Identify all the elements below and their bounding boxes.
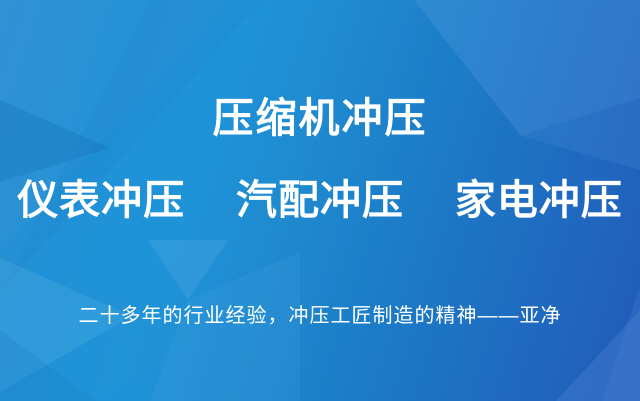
headline-primary: 压缩机冲压 [0, 98, 640, 139]
category-home-appliance-stamping: 家电冲压 [455, 177, 623, 223]
category-instrument-stamping: 仪表冲压 [17, 177, 185, 223]
tagline: 二十多年的行业经验，冲压工匠制造的精神——亚净 [0, 306, 640, 326]
banner-text-content: 压缩机冲压 仪表冲压 汽配冲压 家电冲压 二十多年的行业经验，冲压工匠制造的精神… [0, 0, 640, 401]
category-auto-parts-stamping: 汽配冲压 [236, 177, 404, 223]
promotional-banner: 压缩机冲压 仪表冲压 汽配冲压 家电冲压 二十多年的行业经验，冲压工匠制造的精神… [0, 0, 640, 401]
headline-secondary: 仪表冲压 汽配冲压 家电冲压 [0, 180, 640, 221]
